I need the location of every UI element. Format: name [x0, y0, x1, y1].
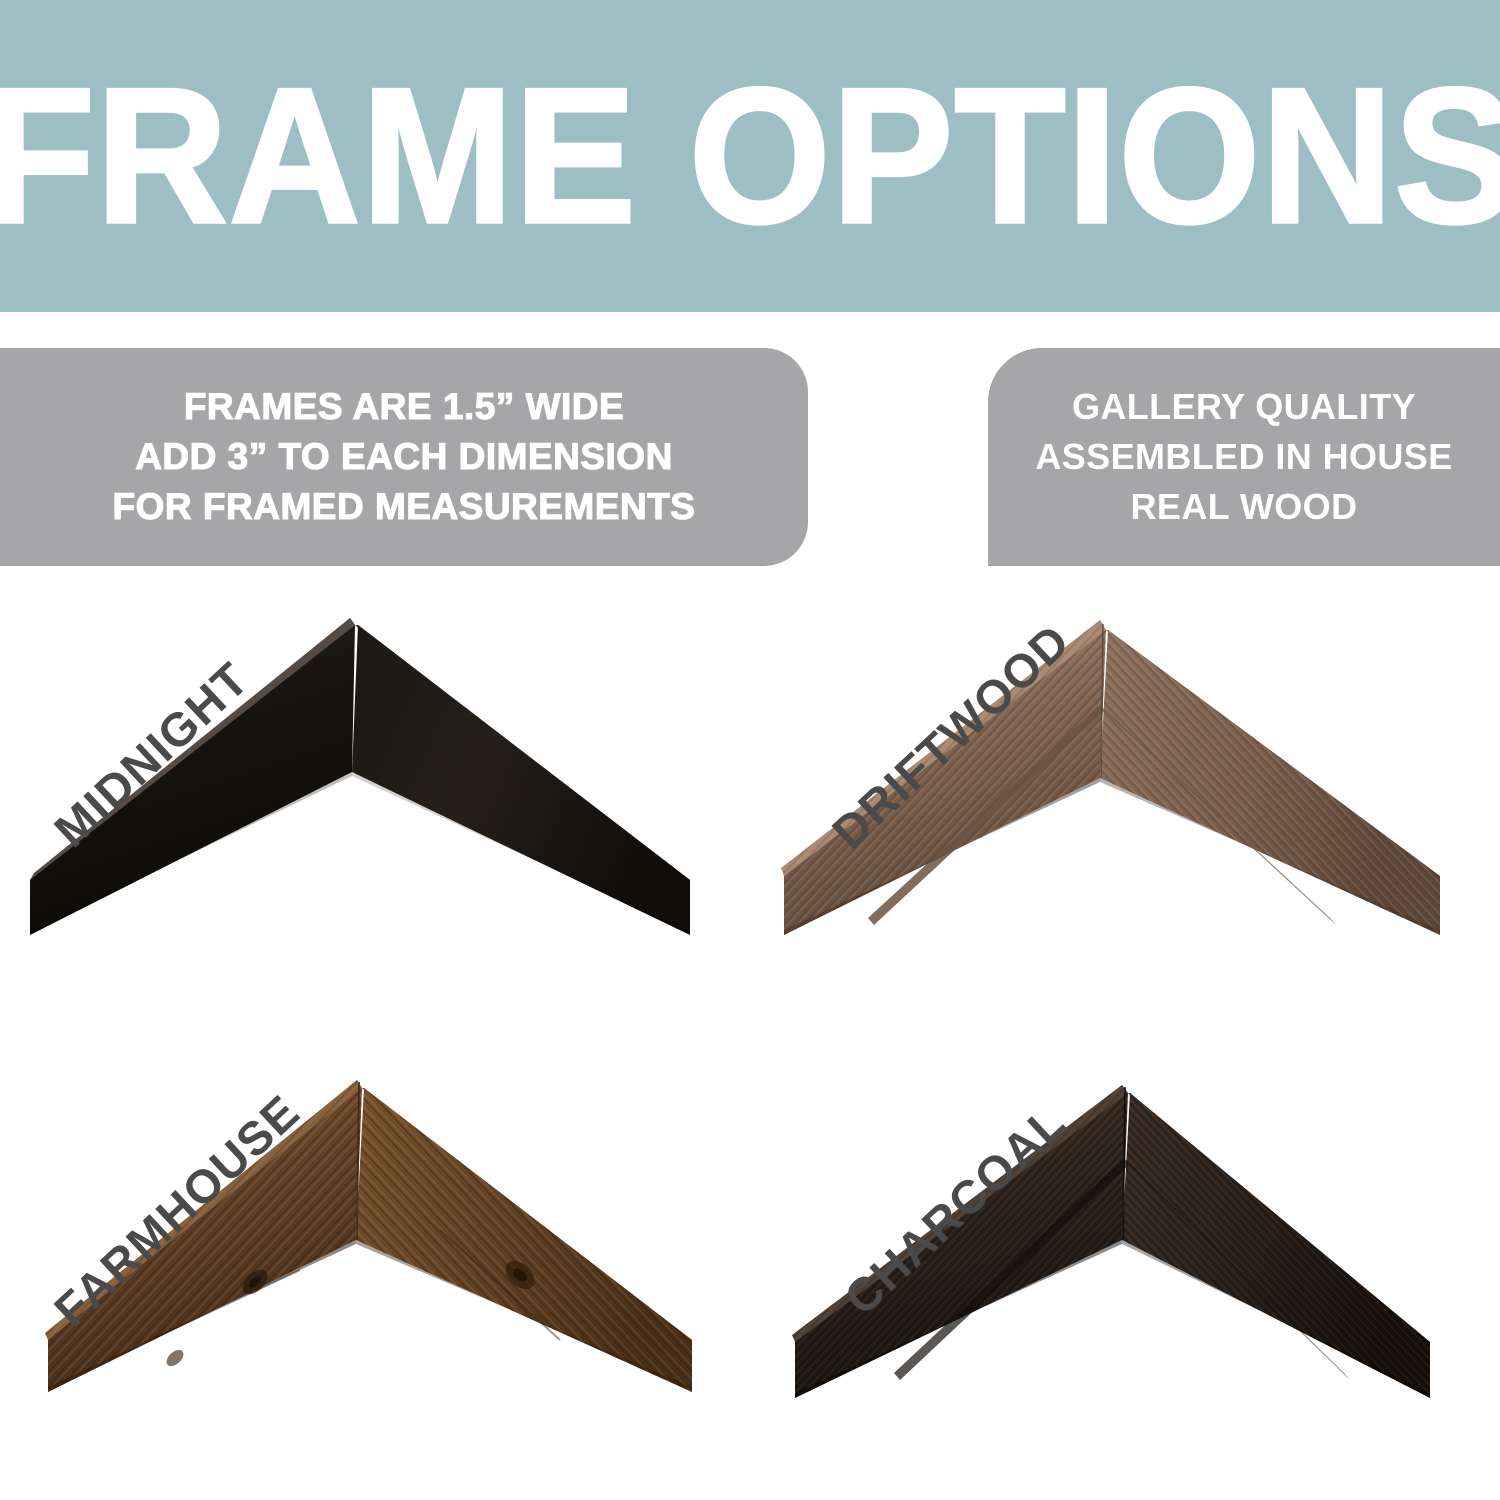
quality-info-line-3: REAL WOOD	[1131, 482, 1358, 532]
page-title: FRAME OPTIONS	[0, 60, 1500, 253]
frame-corner-charcoal-graphic	[750, 1040, 1500, 1470]
sizing-info-box: FRAMES ARE 1.5” WIDE ADD 3” TO EACH DIME…	[0, 348, 808, 566]
quality-info-line-2: ASSEMBLED IN HOUSE	[1035, 432, 1452, 482]
page-header-banner: FRAME OPTIONS	[0, 0, 1500, 312]
sizing-info-line-1: FRAMES ARE 1.5” WIDE	[184, 382, 624, 432]
quality-info-box: GALLERY QUALITY ASSEMBLED IN HOUSE REAL …	[988, 348, 1500, 566]
sizing-info-line-3: FOR FRAMED MEASUREMENTS	[113, 482, 696, 532]
sizing-info-line-2: ADD 3” TO EACH DIMENSION	[135, 432, 673, 482]
frame-sample-charcoal[interactable]	[750, 1040, 1500, 1470]
quality-info-line-1: GALLERY QUALITY	[1072, 382, 1416, 432]
